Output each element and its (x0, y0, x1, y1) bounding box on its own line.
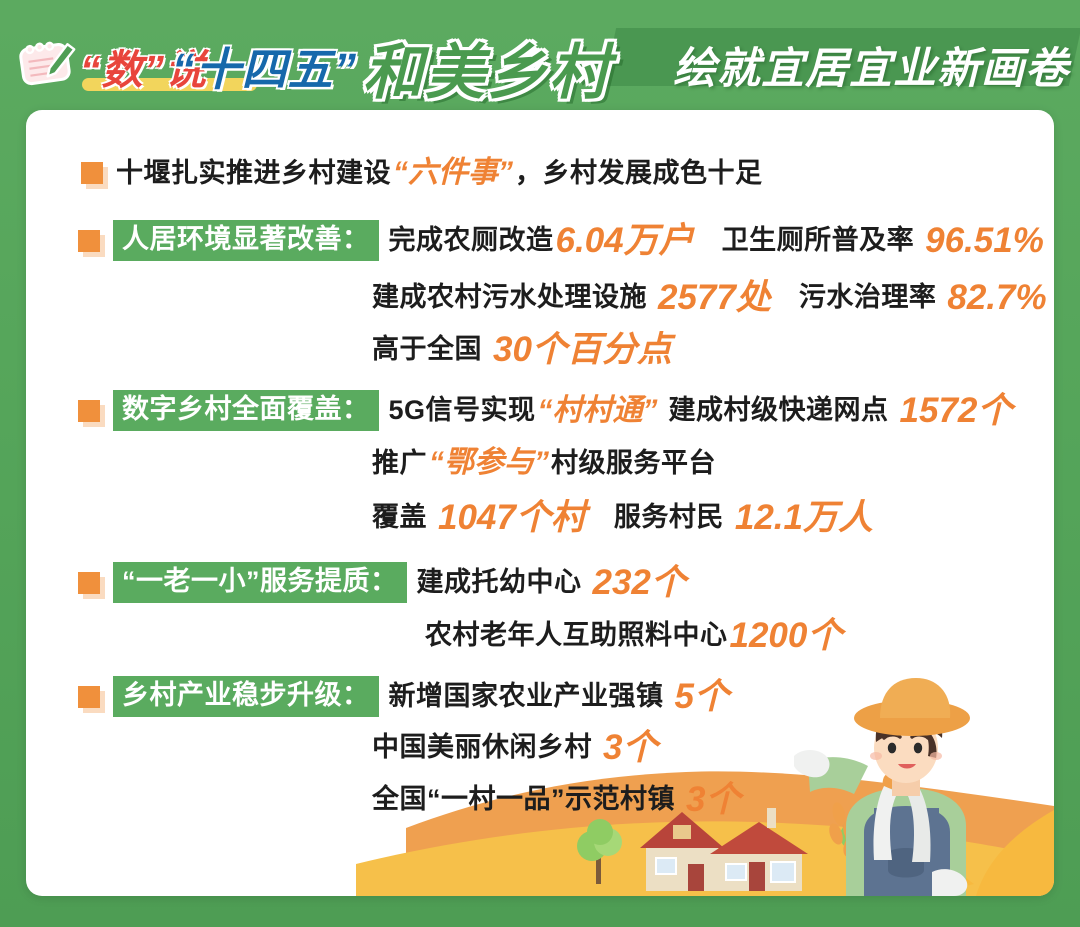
digital-l1-value-1: 1572个 (900, 393, 1013, 428)
row-industry: 乡村产业稳步升级： 新增国家农业产业强镇 5个 (78, 676, 731, 717)
poster-header: “数”说 “十四五” 和美乡村 绘就宜居宜业新画卷 (0, 0, 1080, 108)
intro-text-b: ，乡村发展成色十足 (515, 160, 763, 187)
industry-l3-text-a: 全国“一村一品”示范村镇 (372, 786, 675, 813)
row-care: “一老一小”服务提质： 建成托幼中心 232个 (78, 562, 688, 603)
tag-digital: 数字乡村全面覆盖： (113, 390, 379, 431)
bullet-square-icon (78, 686, 100, 708)
industry-l3-value-1: 3个 (686, 782, 740, 817)
bullet-square-icon (78, 230, 100, 252)
bullet-square-icon (81, 162, 103, 184)
env-l3-text-a: 高于全国 (372, 336, 482, 363)
bullet-square-icon (78, 400, 100, 422)
env-l1-value-1: 6.04万户 (556, 223, 694, 258)
digital-l2-text-a: 推广 (372, 450, 427, 477)
industry-l2-text-a: 中国美丽休闲乡村 (372, 734, 592, 761)
row-care-line2: 农村老年人互助照料中心 1200个 (78, 618, 844, 653)
row-digital-line2: 推广 “鄂参与” 村级服务平台 (78, 448, 716, 478)
bullet-square-icon (78, 572, 100, 594)
digital-l1-highlight: “村村通” (538, 396, 658, 426)
env-l3-value-1: 30个百分点 (493, 332, 672, 367)
header-main-title: 和美乡村 (363, 24, 611, 111)
tag-environment: 人居环境显著改善： (113, 220, 379, 261)
row-digital: 数字乡村全面覆盖： 5G信号实现 “村村通” 建成村级快递网点 1572个 (78, 390, 1014, 431)
care-l2-value-1: 1200个 (730, 618, 843, 653)
digital-l3-value-2: 12.1万人 (735, 500, 873, 535)
content-card: 十堰扎实推进乡村建设 “六件事” ，乡村发展成色十足 人居环境显著改善： 完成农… (26, 110, 1054, 896)
digital-l2-highlight: “鄂参与” (429, 448, 549, 478)
tag-care: “一老一小”服务提质： (113, 562, 407, 603)
care-l1-text-a: 建成托幼中心 (417, 569, 582, 596)
row-environment: 人居环境显著改善： 完成农厕改造 6.04万户 卫生厕所普及率 96.51% (78, 220, 1046, 261)
notebook-pen-icon (18, 40, 80, 88)
row-industry-line2: 中国美丽休闲乡村 3个 (78, 730, 659, 765)
env-l2-text-b: 污水治理率 (799, 284, 937, 311)
row-digital-line3: 覆盖 1047个村 服务村民 12.1万人 (78, 500, 875, 535)
digital-l3-text-a: 覆盖 (372, 504, 427, 531)
env-l1-text-a: 完成农厕改造 (389, 227, 554, 254)
row-environment-line2: 建成农村污水处理设施 2577处 污水治理率 82.7% (78, 280, 1049, 315)
tag-industry: 乡村产业稳步升级： (113, 676, 379, 717)
digital-l2-text-b: 村级服务平台 (551, 450, 716, 477)
intro-highlight: “六件事” (393, 158, 513, 188)
digital-l1-text-b: 建成村级快递网点 (669, 397, 889, 424)
intro-text-a: 十堰扎实推进乡村建设 (116, 160, 391, 187)
digital-l3-value-1: 1047个村 (438, 500, 586, 535)
industry-l1-text-a: 新增国家农业产业强镇 (389, 683, 664, 710)
row-industry-line3: 全国“一村一品”示范村镇 3个 (78, 782, 742, 817)
row-intro: 十堰扎实推进乡村建设 “六件事” ，乡村发展成色十足 (81, 158, 763, 188)
env-l2-value-1: 2577处 (658, 280, 771, 315)
industry-l1-value-1: 5个 (675, 679, 729, 714)
digital-l3-text-b: 服务村民 (614, 504, 724, 531)
env-l1-value-2: 96.51% (925, 223, 1044, 258)
infographic-poster: “数”说 “十四五” 和美乡村 绘就宜居宜业新画卷 (0, 0, 1080, 927)
digital-l1-text-a: 5G信号实现 (389, 397, 536, 424)
care-l1-value-1: 232个 (593, 565, 686, 600)
industry-l2-value-1: 3个 (603, 730, 657, 765)
env-l2-text-a: 建成农村污水处理设施 (372, 284, 647, 311)
header-plan-label: “十四五” (172, 33, 357, 98)
header-subtitle: 绘就宜居宜业新画卷 (673, 34, 1069, 96)
care-l2-text-a: 农村老年人互助照料中心 (425, 622, 728, 649)
row-environment-line3: 高于全国 30个百分点 (78, 332, 674, 367)
env-l1-text-b: 卫生厕所普及率 (722, 227, 915, 254)
env-l2-value-2: 82.7% (947, 280, 1046, 315)
